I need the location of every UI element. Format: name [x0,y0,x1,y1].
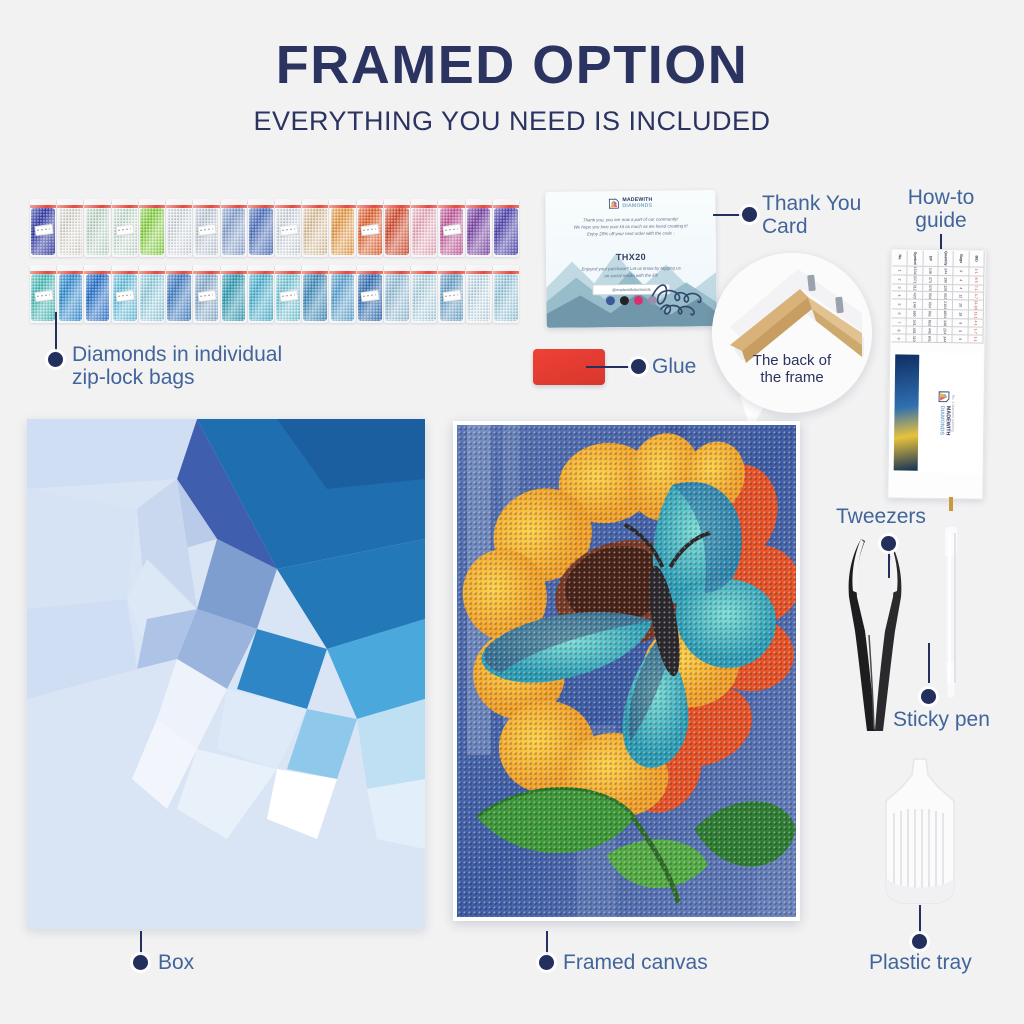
label-box: Box [158,951,194,975]
chart-cell: 9 [953,335,968,342]
guide-cover-image [894,354,920,470]
zip-lock-bag [166,199,192,257]
card-body: Thank you, you are now a part of our com… [556,216,706,238]
zip-lock-bag [84,265,110,323]
chart-cell: 4 [892,292,907,299]
chart-cell: 128 [938,285,953,292]
diamond-logo-icon [608,198,619,209]
chart-cell: 603 [938,292,953,299]
zip-lock-bag [57,265,83,323]
infographic-root: FRAMED OPTION EVERYTHING YOU NEED IS INC… [0,0,1024,1024]
tray-leader-dot [912,934,927,949]
zip-lock-bag [275,199,301,257]
chart-header-cell: DP [923,251,939,266]
zip-lock-bag [193,265,219,323]
chart-cell: 9 [891,334,906,341]
chart-cell: 341 [907,319,922,326]
glue-leader-dot [631,359,646,374]
diamonds-leader-dot [48,352,63,367]
chart-cell: 6 [953,327,968,334]
sticky-pen [938,497,964,702]
canvas-artwork [457,425,796,917]
bag-plastic-sheen [248,265,274,323]
zip-lock-bag [302,199,328,257]
bag-plastic-sheen [302,199,328,257]
zip-lock-bag [411,199,437,257]
zip-lock-bag [275,265,301,323]
thank-you-leader-dot [742,207,757,222]
callout-caption: The back of the frame [712,352,872,387]
zip-lock-bag [112,265,138,323]
page-title: FRAMED OPTION [0,38,1024,92]
chart-cell: 148 [923,266,938,274]
chart-cell: 664 [923,300,938,309]
box-leader-dot [133,955,148,970]
bag-plastic-sheen [221,199,247,257]
chart-cell: 5 [892,300,907,309]
chart-cell: 2 [892,275,907,283]
zip-lock-bag [221,265,247,323]
zip-lock-bag [84,199,110,257]
framed-canvas [453,421,800,921]
chart-cell: 1854 [938,310,953,318]
bag-plastic-sheen [221,265,247,323]
chart-cell: 312 [907,284,922,291]
thank-you-card: MADEWITH DIAMONDS Thank you, you are now… [545,190,716,328]
diamond-logo-icon [938,391,950,403]
chart-cell: 373 [923,275,938,283]
bag-plastic-sheen [57,265,83,323]
chart-cell: 1-1 [968,336,983,343]
bag-plastic-sheen [302,265,328,323]
sticky-pen-icon [938,497,964,702]
chart-cell: 7-1 [969,285,984,292]
label-how-to-guide: How-to guide [886,186,996,232]
chart-cell: 20 [953,301,968,310]
bag-plastic-sheen [466,265,492,323]
tiktok-icon [620,296,629,305]
label-thank-you-card: Thank You Card [762,192,902,238]
label-framed-canvas: Framed canvas [563,951,708,975]
chart-cell: 664 [923,292,938,299]
canvas-leader-dot [539,955,554,970]
label-diamonds: Diamonds in individual zip-lock bags [72,343,372,389]
card-thank-you-script [648,276,710,321]
chart-cell: 344 [938,267,953,275]
chart-cell: 861 [922,310,937,318]
card-brand-line2: DIAMONDS [622,203,652,209]
tweezers [845,535,905,735]
zip-lock-bag [193,199,219,257]
label-sticky-pen: Sticky pen [893,708,990,732]
bag-plastic-sheen [57,199,83,257]
chart-cell: 4 [953,285,968,292]
zip-lock-bag [30,199,56,257]
chart-cell: 8-5 [969,276,984,284]
chart-cell: 11-1 [968,311,983,319]
zip-lock-bag [493,199,519,257]
zip-lock-bag [221,199,247,257]
facebook-icon [606,296,615,305]
bag-plastic-sheen [329,199,355,257]
chart-header-row: No.SymbolDPQuantityBagsBID [893,250,985,267]
chart-header-cell: Bags [954,251,970,266]
bag-plastic-sheen [84,199,110,257]
chart-cell: 348 [938,319,953,326]
chart-cell: 344 [937,335,952,342]
bag-plastic-sheen [384,265,410,323]
guide-brand-text: MADEWITH DIAMONDS [938,406,950,436]
chart-header-cell: Symbol [908,251,924,266]
callout-circle [712,253,872,413]
bag-plastic-sheen [166,265,192,323]
label-plastic-tray: Plastic tray [869,951,972,975]
chart-cell: 190 [938,276,953,284]
zip-lock-bag [139,199,165,257]
diamond-dot-texture [457,425,796,917]
chart-row: 931084134491-1 [891,334,983,343]
diamonds-leader-line [55,312,57,354]
page-subtitle: EVERYTHING YOU NEED IS INCLUDED [0,108,1024,135]
frame-corner-photo [712,253,872,413]
zip-lock-bag [438,265,464,323]
chart-cell: 148 [907,300,922,309]
guide-color-chart: No.SymbolDPQuantityBagsBID1153414834491-… [891,250,984,343]
zip-lock-bag [248,199,274,257]
zip-lock-bag [302,265,328,323]
zip-lock-bag [357,199,383,257]
label-tweezers: Tweezers [836,505,926,529]
zip-lock-bag [384,199,410,257]
zip-lock-bag [57,199,83,257]
zip-lock-bag [466,199,492,257]
card-promo-code: THX20 [546,251,716,263]
zip-lock-bag [357,265,383,323]
zip-lock-bag [139,265,165,323]
bag-plastic-sheen [84,265,110,323]
chart-cell: 1 [892,266,907,274]
zip-lock-bag [411,265,437,323]
chart-cell: 1-7 [968,328,983,335]
bag-plastic-sheen [466,199,492,257]
chart-cell: 445 [922,327,937,334]
bag-plastic-sheen [493,265,519,323]
chart-cell: 3371 [908,275,923,283]
chart-cell: 853 [922,319,937,326]
chart-cell: 11-18 [969,301,984,310]
chart-cell: 4-1 [968,320,983,327]
bag-plastic-sheen [248,199,274,257]
chart-cell: 9 [954,267,969,275]
bag-plastic-sheen [139,199,165,257]
bag-plastic-sheen [411,265,437,323]
chart-cell: 680 [907,310,922,318]
chart-header-cell: Quantity [938,251,954,266]
chart-cell: 9 [953,320,968,327]
bag-plastic-sheen [139,265,165,323]
chart-cell: 8 [892,327,907,334]
guide-cover-side-text: No. 1 diamond painting [951,395,956,432]
guide-cover: No. 1 diamond painting MADEWITH DIAMONDS [892,352,982,473]
box-artwork [27,419,425,929]
zip-lock-bag [493,265,519,323]
tweezers-leader-dot [881,536,896,551]
bag-plastic-sheen [493,199,519,257]
bag-plastic-sheen [329,265,355,323]
zip-lock-bag [466,265,492,323]
chart-cell: 7 [892,319,907,326]
chart-header-cell: No. [893,250,909,265]
label-glue: Glue [652,355,696,379]
plastic-tray-icon [876,757,964,917]
chart-cell: 18 [953,311,968,319]
chart-cell: 6 [892,310,907,318]
back-of-frame-callout: The back of the frame [712,253,872,413]
zip-lock-bag [166,265,192,323]
chart-cell: 3-7 [969,293,984,300]
bag-plastic-sheen [384,199,410,257]
chart-cell: 1534 [908,266,923,274]
plastic-tray [876,757,964,917]
bag-plastic-sheen [166,199,192,257]
zip-lock-bag [112,199,138,257]
chart-cell: 841 [922,335,937,342]
guide-brand-logo: MADEWITH DIAMONDS [938,391,951,436]
product-box: MADEWITH DIAMONDS [27,419,425,929]
bag-plastic-sheen [411,199,437,257]
chart-cell: 4 [954,276,969,284]
card-brand-text: MADEWITH DIAMONDS [622,198,652,209]
how-to-guide-booklet: No.SymbolDPQuantityBagsBID1153414834491-… [887,248,986,499]
chart-cell: 310 [907,335,922,342]
chart-header-cell: BID [969,251,985,266]
zip-lock-bag [384,265,410,323]
chart-cell: 370 [923,284,938,291]
zip-lock-bag [30,265,56,323]
instagram-icon [634,296,643,305]
chart-cell: 12 [953,293,968,300]
chart-cell: 1-1 [969,267,984,275]
zip-lock-bag [248,265,274,323]
diamond-bags-row-2 [30,265,520,323]
card-brand-logo: MADEWITH DIAMONDS [608,198,652,209]
chart-cell: 3 [892,284,907,291]
chart-cell: 264 [938,327,953,334]
zip-lock-bag [329,199,355,257]
guide-brand-line2: DIAMONDS [938,406,944,436]
zip-lock-bag [329,265,355,323]
chart-cell: 2164 [938,300,953,309]
tweezers-icon [845,535,905,735]
chart-cell: 481 [907,327,922,334]
chart-cell: 420 [907,292,922,299]
pen-leader-line [928,643,930,683]
pen-leader-dot [921,689,936,704]
diamond-bags-row-1 [30,199,520,257]
zip-lock-bag [438,199,464,257]
